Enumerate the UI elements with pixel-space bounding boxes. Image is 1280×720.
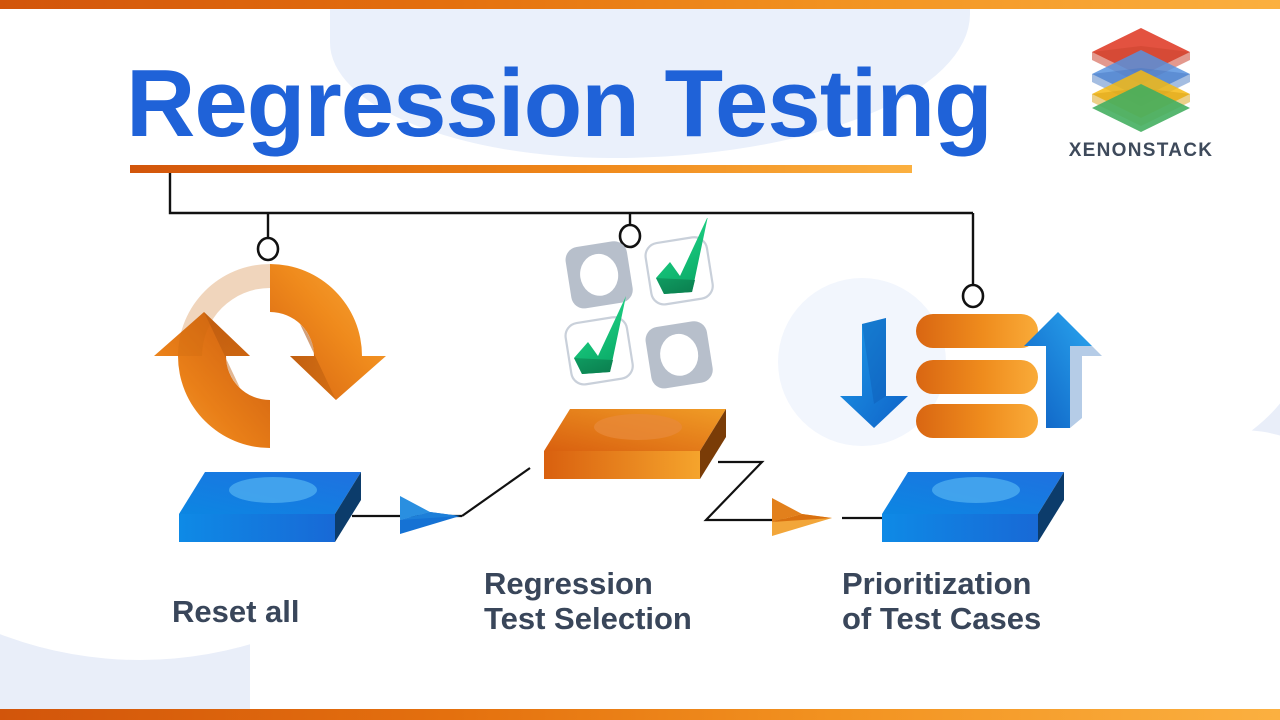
platform-slab-selection [530, 405, 740, 497]
circular-refresh-arrows-icon [140, 250, 400, 460]
caption-regression-test-selection: Regression Test Selection [484, 566, 692, 636]
caption-line: of Test Cases [842, 601, 1041, 636]
checkbox-grid-icon [552, 218, 732, 418]
page-title: Regression Testing [126, 52, 992, 156]
caption-prioritization-of-test-cases: Prioritization of Test Cases [842, 566, 1041, 636]
caption-reset-all: Reset all [172, 594, 300, 629]
bottom-accent-bar [0, 709, 1280, 720]
caption-line: Regression [484, 566, 692, 601]
brand-logo: XENONSTACK [1048, 22, 1234, 162]
top-accent-bar [0, 0, 1280, 9]
caption-line: Prioritization [842, 566, 1041, 601]
infographic-canvas: Regression Testing XENONSTACK [0, 0, 1280, 720]
logo-wordmark: XENONSTACK [1048, 140, 1234, 162]
caption-line: Reset all [172, 594, 300, 629]
caption-line: Test Selection [484, 601, 692, 636]
right-arrow-icon [396, 490, 476, 540]
sort-priority-arrows-icon [830, 300, 1120, 440]
platform-slab-reset [165, 468, 375, 560]
platform-slab-priority [868, 468, 1078, 560]
stacked-layers-icon [1086, 22, 1196, 134]
title-underline [130, 165, 912, 173]
right-arrow-icon [768, 492, 848, 542]
